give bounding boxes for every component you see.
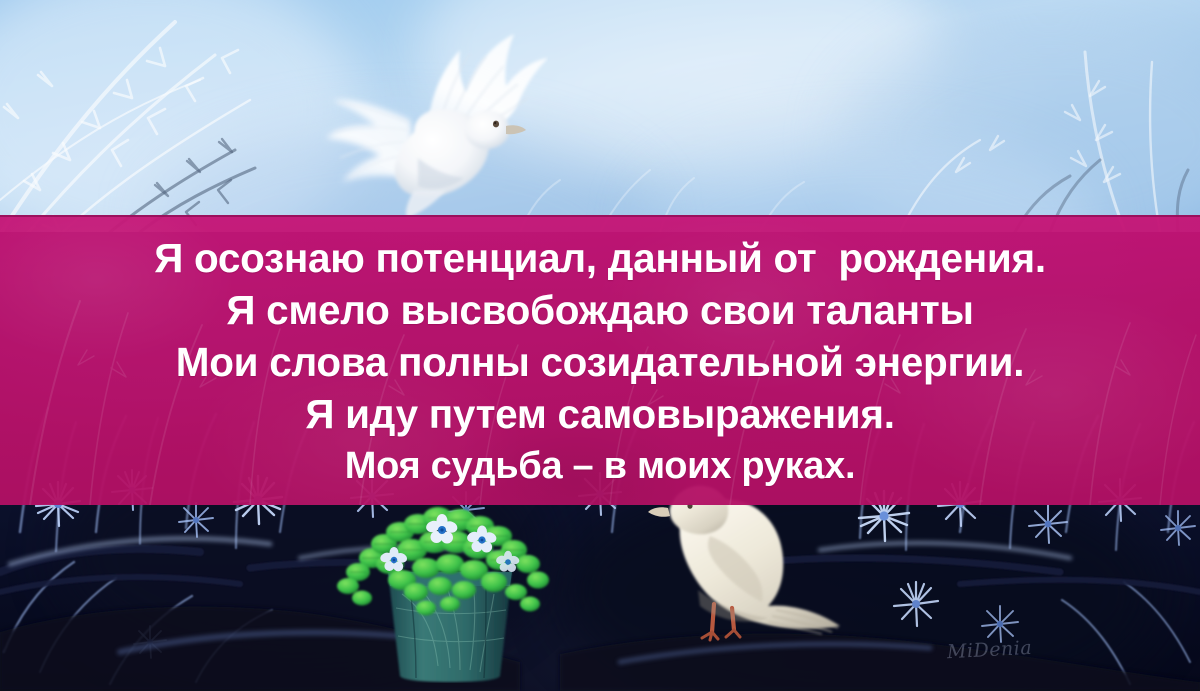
flying-dove-icon	[318, 28, 548, 218]
affirmation-line-1: Я осознаю потенциал, данный от рождения.	[154, 232, 1046, 284]
ghost-branches-icon	[0, 0, 1200, 232]
affirmation-line-4: Я иду путем самовыражения.	[305, 388, 894, 440]
affirmation-lines: Я осознаю потенциал, данный от рождения.…	[0, 215, 1200, 505]
affirmation-text-band: Я осознаю потенциал, данный от рождения.…	[0, 215, 1200, 505]
affirmation-line-5: Моя судьба – в моих руках.	[345, 440, 855, 492]
potted-plant-icon	[330, 498, 570, 683]
affirmation-line-2: Я смело высвобождаю свои таланты	[226, 284, 973, 336]
standing-dove-icon	[618, 480, 848, 655]
affirmation-line-3: Мои слова полны созидательной энергии.	[176, 336, 1024, 388]
sky-background	[0, 0, 1200, 232]
affirmation-card: MiDenia	[0, 0, 1200, 691]
